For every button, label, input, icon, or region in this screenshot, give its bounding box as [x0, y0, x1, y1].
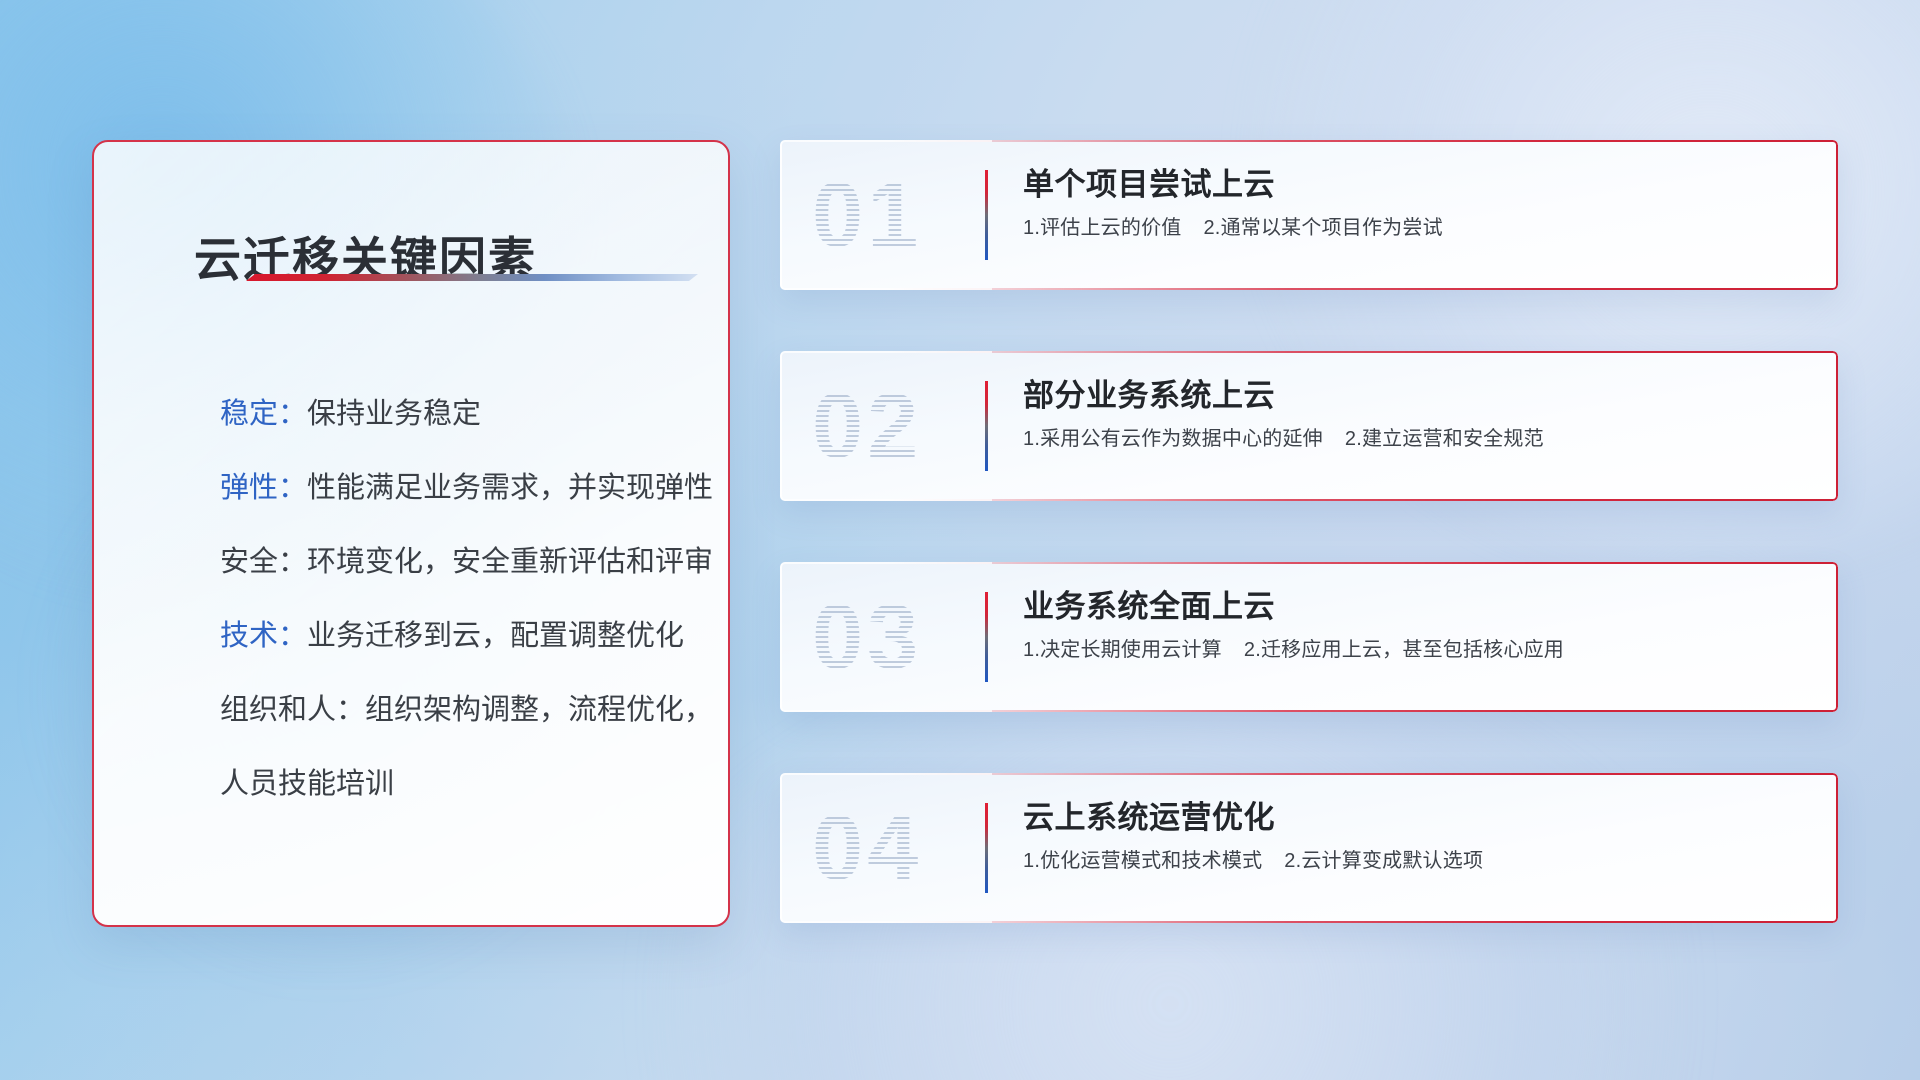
slide-stage: 云迁移关键因素 稳定：保持业务稳定 弹性：性能满足业务需求，并实现弹性 安全：环… [0, 0, 1920, 1080]
step-number-watermark-01: 01 [812, 169, 922, 261]
factor-text-organization: 组织架构调整，流程优化， [365, 694, 713, 726]
factor-item-technology: 技术：业务迁移到云，配置调整优化 [220, 599, 692, 673]
step-desc-part-2-03: 2.迁移应用上云，甚至包括核心应用 [1244, 639, 1564, 661]
factor-item-security: 安全：环境变化，安全重新评估和评审 [220, 525, 692, 599]
step-divider-bar-03 [985, 592, 988, 682]
factor-text-elasticity: 性能满足业务需求，并实现弹性 [307, 472, 713, 504]
step-card-03[interactable]: 03 业务系统全面上云 1.决定长期使用云计算2.迁移应用上云，甚至包括核心应用 [780, 562, 1838, 712]
factor-label-technology: 技术： [220, 620, 307, 652]
step-divider-bar-04 [985, 803, 988, 893]
step-card-02[interactable]: 02 部分业务系统上云 1.采用公有云作为数据中心的延伸2.建立运营和安全规范 [780, 351, 1838, 501]
factor-label-organization: 组织和人： [220, 694, 365, 726]
step-card-04[interactable]: 04 云上系统运营优化 1.优化运营模式和技术模式2.云计算变成默认选项 [780, 773, 1838, 923]
key-factors-panel: 云迁移关键因素 稳定：保持业务稳定 弹性：性能满足业务需求，并实现弹性 安全：环… [92, 140, 730, 927]
step-title-04: 云上系统运营优化 [1023, 799, 1810, 836]
step-description-01: 1.评估上云的价值2.通常以某个项目作为尝试 [1023, 215, 1810, 241]
step-body-03: 业务系统全面上云 1.决定长期使用云计算2.迁移应用上云，甚至包括核心应用 [1023, 588, 1810, 663]
factor-item-elasticity: 弹性：性能满足业务需求，并实现弹性 [220, 451, 692, 525]
step-title-01: 单个项目尝试上云 [1023, 166, 1810, 203]
step-desc-part-1-02: 1.采用公有云作为数据中心的延伸 [1023, 428, 1323, 450]
step-card-01[interactable]: 01 单个项目尝试上云 1.评估上云的价值2.通常以某个项目作为尝试 [780, 140, 1838, 290]
factor-label-elasticity: 弹性： [220, 472, 307, 504]
key-factors-list: 稳定：保持业务稳定 弹性：性能满足业务需求，并实现弹性 安全：环境变化，安全重新… [220, 377, 692, 821]
step-desc-part-1-03: 1.决定长期使用云计算 [1023, 639, 1222, 661]
step-title-02: 部分业务系统上云 [1023, 377, 1810, 414]
step-desc-part-2-04: 2.云计算变成默认选项 [1284, 850, 1483, 872]
step-description-02: 1.采用公有云作为数据中心的延伸2.建立运营和安全规范 [1023, 426, 1810, 452]
step-desc-part-1-04: 1.优化运营模式和技术模式 [1023, 850, 1262, 872]
step-divider-bar-01 [985, 170, 988, 260]
step-number-watermark-02: 02 [812, 380, 922, 472]
step-body-04: 云上系统运营优化 1.优化运营模式和技术模式2.云计算变成默认选项 [1023, 799, 1810, 874]
factor-text-stability: 保持业务稳定 [307, 398, 481, 430]
step-title-03: 业务系统全面上云 [1023, 588, 1810, 625]
factor-text-technology: 业务迁移到云，配置调整优化 [307, 620, 684, 652]
factor-item-stability: 稳定：保持业务稳定 [220, 377, 692, 451]
step-body-02: 部分业务系统上云 1.采用公有云作为数据中心的延伸2.建立运营和安全规范 [1023, 377, 1810, 452]
factor-label-security: 安全： [220, 546, 307, 578]
step-divider-bar-02 [985, 381, 988, 471]
step-description-04: 1.优化运营模式和技术模式2.云计算变成默认选项 [1023, 848, 1810, 874]
step-description-03: 1.决定长期使用云计算2.迁移应用上云，甚至包括核心应用 [1023, 637, 1810, 663]
factor-label-stability: 稳定： [220, 398, 307, 430]
title-underline-rule [246, 274, 698, 281]
step-number-watermark-03: 03 [812, 591, 922, 683]
step-desc-part-2-01: 2.通常以某个项目作为尝试 [1203, 217, 1442, 239]
factor-text-organization-cont: 人员技能培训 [220, 768, 394, 800]
factor-item-organization: 组织和人：组织架构调整，流程优化， [220, 673, 692, 747]
step-desc-part-1-01: 1.评估上云的价值 [1023, 217, 1181, 239]
factor-text-security: 环境变化，安全重新评估和评审 [307, 546, 713, 578]
step-body-01: 单个项目尝试上云 1.评估上云的价值2.通常以某个项目作为尝试 [1023, 166, 1810, 241]
step-number-watermark-04: 04 [812, 802, 922, 894]
factor-item-organization-cont: 人员技能培训 [220, 747, 692, 821]
step-desc-part-2-02: 2.建立运营和安全规范 [1345, 428, 1544, 450]
